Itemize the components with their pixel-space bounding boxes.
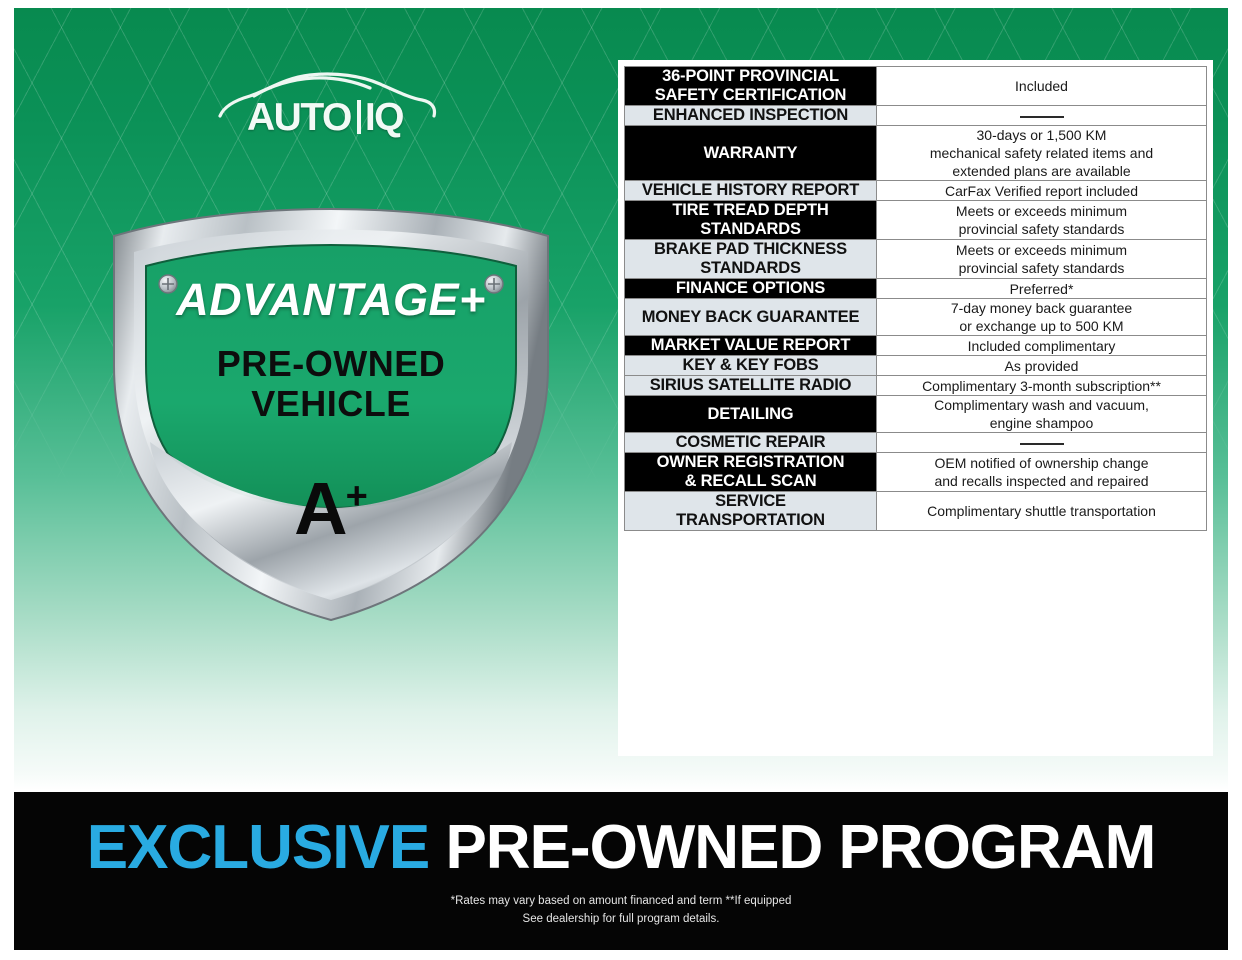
feature-value: Included complimentary xyxy=(877,336,1207,356)
table-row: TIRE TREAD DEPTH STANDARDSMeets or excee… xyxy=(625,201,1207,240)
feature-value: OEM notified of ownership change and rec… xyxy=(877,453,1207,492)
feature-label: SERVICE TRANSPORTATION xyxy=(625,492,877,531)
feature-label: MONEY BACK GUARANTEE xyxy=(625,299,877,336)
feature-value: CarFax Verified report included xyxy=(877,181,1207,201)
feature-value: Preferred* xyxy=(877,279,1207,299)
table-row: 36-POINT PROVINCIAL SAFETY CERTIFICATION… xyxy=(625,67,1207,106)
banner-title: EXCLUSIVE PRE-OWNED PROGRAM xyxy=(14,812,1228,883)
fine-print-line-2: See dealership for full program details. xyxy=(14,910,1228,928)
feature-label: TIRE TREAD DEPTH STANDARDS xyxy=(625,201,877,240)
features-table: 36-POINT PROVINCIAL SAFETY CERTIFICATION… xyxy=(624,66,1207,531)
banner-title-rest: PRE-OWNED PROGRAM xyxy=(445,813,1155,882)
table-row: FINANCE OPTIONSPreferred* xyxy=(625,279,1207,299)
feature-label: WARRANTY xyxy=(625,126,877,181)
table-row: WARRANTY30-days or 1,500 KM mechanical s… xyxy=(625,126,1207,181)
logo-word-auto: AUTO xyxy=(247,96,351,139)
logo-divider-bar xyxy=(357,100,361,134)
banner-title-highlight: EXCLUSIVE xyxy=(87,813,429,882)
feature-value: 30-days or 1,500 KM mechanical safety re… xyxy=(877,126,1207,181)
bottom-banner: EXCLUSIVE PRE-OWNED PROGRAM *Rates may v… xyxy=(14,792,1228,950)
table-row: SERVICE TRANSPORTATIONComplimentary shut… xyxy=(625,492,1207,531)
table-row: VEHICLE HISTORY REPORTCarFax Verified re… xyxy=(625,181,1207,201)
table-row: BRAKE PAD THICKNESS STANDARDSMeets or ex… xyxy=(625,240,1207,279)
feature-value: Complimentary shuttle transportation xyxy=(877,492,1207,531)
table-row: SIRIUS SATELLITE RADIOComplimentary 3-mo… xyxy=(625,376,1207,396)
feature-label: OWNER REGISTRATION & RECALL SCAN xyxy=(625,453,877,492)
advantage-shield-badge: ADVANTAGE+ PRE-OWNED VEHICLE A+ xyxy=(106,196,556,626)
feature-label: COSMETIC REPAIR xyxy=(625,433,877,453)
autoiq-logo: AUTOIQ xyxy=(210,66,440,150)
fine-print-line-1: *Rates may vary based on amount financed… xyxy=(14,892,1228,910)
feature-value: Included xyxy=(877,67,1207,106)
feature-label: DETAILING xyxy=(625,396,877,433)
feature-label: MARKET VALUE REPORT xyxy=(625,336,877,356)
em-dash-icon xyxy=(1020,443,1064,445)
feature-value: Complimentary wash and vacuum, engine sh… xyxy=(877,396,1207,433)
table-row: COSMETIC REPAIR xyxy=(625,433,1207,453)
feature-label: VEHICLE HISTORY REPORT xyxy=(625,181,877,201)
feature-value: As provided xyxy=(877,356,1207,376)
hero-panel: AUTOIQ xyxy=(14,8,1228,790)
features-table-frame: 36-POINT PROVINCIAL SAFETY CERTIFICATION… xyxy=(618,60,1213,756)
feature-value xyxy=(877,433,1207,453)
table-row: MARKET VALUE REPORTIncluded complimentar… xyxy=(625,336,1207,356)
banner-fine-print: *Rates may vary based on amount financed… xyxy=(14,892,1228,928)
table-row: DETAILINGComplimentary wash and vacuum, … xyxy=(625,396,1207,433)
feature-value: 7-day money back guarantee or exchange u… xyxy=(877,299,1207,336)
logo-word-iq: IQ xyxy=(365,96,403,139)
table-row: MONEY BACK GUARANTEE7-day money back gua… xyxy=(625,299,1207,336)
feature-label: FINANCE OPTIONS xyxy=(625,279,877,299)
shield-graphic xyxy=(106,196,556,626)
feature-label: KEY & KEY FOBS xyxy=(625,356,877,376)
feature-label: 36-POINT PROVINCIAL SAFETY CERTIFICATION xyxy=(625,67,877,106)
feature-value: Complimentary 3-month subscription** xyxy=(877,376,1207,396)
promo-sheet: AUTOIQ xyxy=(0,0,1242,960)
feature-value: Meets or exceeds minimum provincial safe… xyxy=(877,201,1207,240)
table-row: KEY & KEY FOBSAs provided xyxy=(625,356,1207,376)
features-table-body: 36-POINT PROVINCIAL SAFETY CERTIFICATION… xyxy=(625,67,1207,531)
feature-value xyxy=(877,106,1207,126)
feature-label: BRAKE PAD THICKNESS STANDARDS xyxy=(625,240,877,279)
feature-label: SIRIUS SATELLITE RADIO xyxy=(625,376,877,396)
feature-value: Meets or exceeds minimum provincial safe… xyxy=(877,240,1207,279)
table-row: OWNER REGISTRATION & RECALL SCANOEM noti… xyxy=(625,453,1207,492)
table-row: ENHANCED INSPECTION xyxy=(625,106,1207,126)
feature-label: ENHANCED INSPECTION xyxy=(625,106,877,126)
em-dash-icon xyxy=(1020,116,1064,118)
